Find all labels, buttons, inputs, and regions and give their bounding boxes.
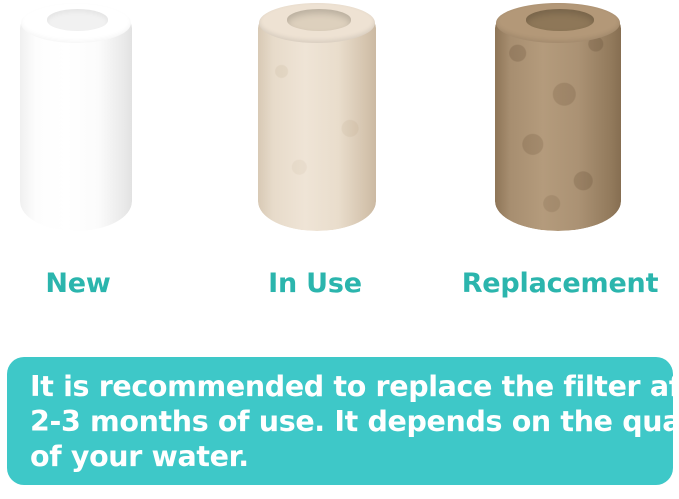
filter-image-in-use	[258, 3, 376, 231]
filter-image-new	[20, 3, 132, 231]
product-infographic: New In Use Replacement It is recommended…	[0, 0, 679, 499]
cylinder-bore-hole-replacement	[526, 9, 595, 30]
cylinder-bore-hole-in-use	[287, 9, 351, 30]
recommendation-line-2: 2-3 months of use. It depends on the qua…	[30, 404, 651, 439]
cylinder-bore-hole-new	[47, 9, 108, 30]
recommendation-line-1: It is recommended to replace the filter …	[30, 369, 651, 404]
filter-image-replacement	[495, 3, 621, 231]
filter-caption-replacement: Replacement	[410, 268, 679, 299]
recommendation-line-3: of your water.	[30, 439, 651, 474]
filter-comparison-row	[0, 0, 679, 245]
recommendation-banner: It is recommended to replace the filter …	[7, 357, 673, 485]
recommendation-text: It is recommended to replace the filter …	[30, 369, 651, 474]
